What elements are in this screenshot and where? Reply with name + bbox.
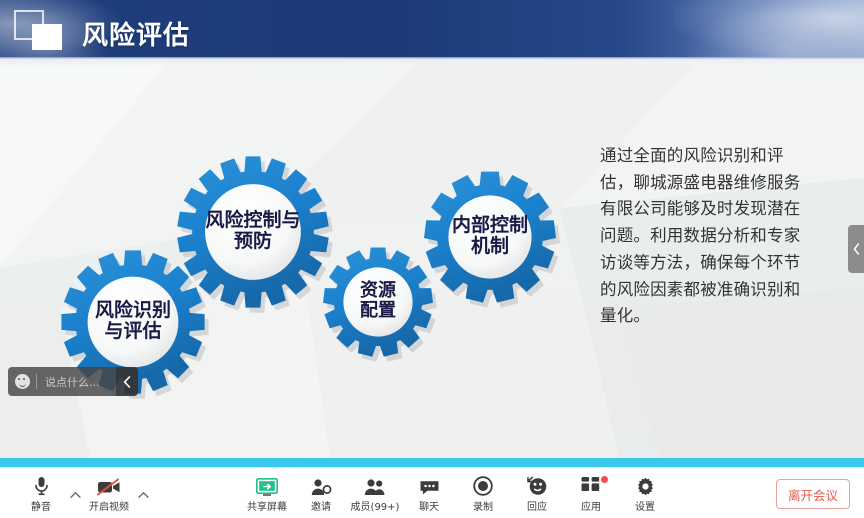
toolbar-item-label: 邀请	[311, 498, 331, 513]
toolbar-item-apps-grid[interactable]: 应用	[564, 468, 618, 518]
slide-header: 风险评估	[0, 0, 864, 58]
participants-icon	[364, 474, 386, 496]
page-title: 风险评估	[82, 15, 190, 52]
toolbar-item-chat-bubble[interactable]: 聊天	[402, 468, 456, 518]
toolbar-left-group: 静音开启视频	[14, 468, 150, 518]
invite-user-icon	[310, 474, 332, 496]
toolbar-item-camera-off[interactable]: 开启视频	[82, 468, 136, 518]
slide-body-text: 通过全面的风险识别和评估，聊城源盛电器维修服务有限公司能够及时发现潜在问题。利用…	[600, 143, 806, 330]
gear-icon	[636, 474, 655, 496]
panel-collapse-tab[interactable]	[848, 225, 864, 273]
toolbar-item-label: 共享屏幕	[247, 498, 287, 513]
meeting-toolbar: 静音开启视频 共享屏幕邀请成员(99+)聊天录制回应应用设置 离开会议	[0, 467, 864, 518]
two-squares-logo-icon	[14, 10, 70, 50]
chevron-up-icon	[138, 491, 149, 499]
logo-square-filled	[32, 24, 62, 50]
share-screen-icon	[256, 474, 278, 496]
sky-texture-right	[674, 0, 864, 58]
toolbar-item-label: 开启视频	[89, 498, 129, 513]
toolbar-item-gear[interactable]: 设置	[618, 468, 672, 518]
toolbar-item-menu-caret[interactable]	[136, 467, 150, 518]
smiley-icon[interactable]	[8, 374, 36, 389]
chevron-left-icon	[853, 243, 860, 255]
toolbar-item-menu-caret[interactable]	[68, 467, 82, 518]
header-underglow	[0, 59, 864, 65]
chat-collapse-button[interactable]	[116, 367, 138, 396]
toolbar-item-microphone[interactable]: 静音	[14, 468, 68, 518]
notification-badge	[601, 476, 608, 483]
gear-3	[323, 248, 437, 362]
toolbar-item-label: 回应	[527, 498, 547, 513]
toolbar-right-group: 共享屏幕邀请成员(99+)聊天录制回应应用设置	[240, 468, 672, 518]
apps-grid-icon	[581, 474, 601, 496]
toolbar-item-label: 设置	[635, 498, 655, 513]
accent-strip	[0, 458, 864, 467]
leave-meeting-button[interactable]: 离开会议	[776, 479, 850, 509]
toolbar-item-label: 成员(99+)	[351, 498, 400, 513]
chevron-up-icon	[70, 491, 81, 499]
chat-bubble-icon	[419, 474, 440, 496]
chat-input-bar[interactable]: 说点什么...	[8, 367, 138, 396]
reaction-icon	[527, 474, 548, 496]
toolbar-item-label: 静音	[31, 498, 51, 513]
chevron-left-icon	[123, 376, 131, 388]
camera-off-icon	[97, 474, 121, 496]
gear-4	[424, 172, 560, 308]
microphone-icon	[33, 474, 50, 496]
gear-2	[177, 156, 333, 312]
toolbar-item-share-screen[interactable]: 共享屏幕	[240, 468, 294, 518]
toolbar-item-record[interactable]: 录制	[456, 468, 510, 518]
toolbar-item-invite-user[interactable]: 邀请	[294, 468, 348, 518]
toolbar-item-reaction[interactable]: 回应	[510, 468, 564, 518]
toolbar-item-label: 聊天	[419, 498, 439, 513]
toolbar-item-participants[interactable]: 成员(99+)	[348, 468, 402, 518]
toolbar-item-label: 录制	[473, 498, 493, 513]
toolbar-item-label: 应用	[581, 498, 601, 513]
record-icon	[473, 474, 493, 496]
meeting-window: 风险识别与评估 风险控制与预防 资源配置 内部控制机制 通过全面的风险识别和评估…	[0, 0, 864, 518]
chat-input[interactable]: 说点什么...	[37, 374, 116, 390]
